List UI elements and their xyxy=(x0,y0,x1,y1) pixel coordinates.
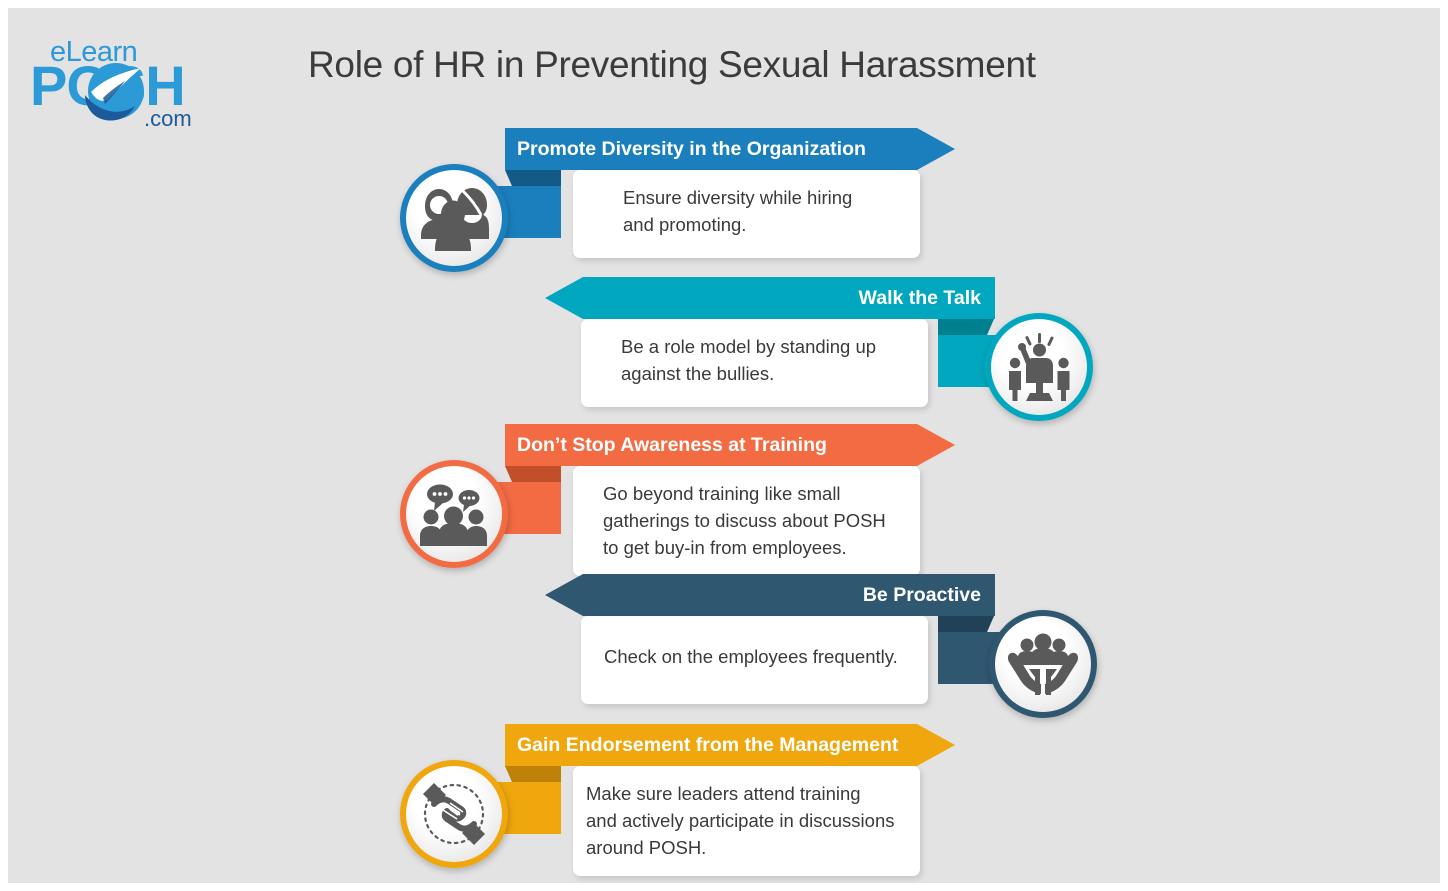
step-4-icon-badge xyxy=(989,610,1097,718)
step-4-card: Check on the employees frequently. xyxy=(581,616,928,704)
step-2-title: Walk the Talk xyxy=(859,277,981,319)
step-3-icon-badge xyxy=(400,460,508,568)
handshake-icon xyxy=(417,777,491,851)
dove-wave-mark-icon xyxy=(83,62,149,124)
step-3-title: Don’t Stop Awareness at Training xyxy=(517,424,827,466)
step-4-banner[interactable]: Be Proactive xyxy=(545,574,995,616)
step-row-3: Don’t Stop Awareness at Training Go beyo… xyxy=(8,416,1440,576)
infographic-canvas: eLearn POSH .com Role of HR in Preventin… xyxy=(8,8,1440,883)
diverse-people-icon xyxy=(419,185,489,251)
step-3-card: Go beyond training like small gatherings… xyxy=(573,466,920,576)
step-1-body: Ensure diversity while hiring and promot… xyxy=(623,184,852,238)
step-4-title: Be Proactive xyxy=(863,574,981,616)
step-5-body: Make sure leaders attend training and ac… xyxy=(586,780,895,861)
step-1-banner[interactable]: Promote Diversity in the Organization xyxy=(505,128,955,170)
step-1-icon-badge xyxy=(400,164,508,272)
leader-on-podium-icon xyxy=(1006,333,1072,401)
step-5-title: Gain Endorsement from the Management xyxy=(517,724,898,766)
hands-holding-people-icon xyxy=(1007,631,1079,697)
step-row-1: Promote Diversity in the Organization En… xyxy=(8,120,1440,280)
step-5-card: Make sure leaders attend training and ac… xyxy=(573,766,920,876)
group-discussion-icon xyxy=(419,482,489,546)
step-1-title: Promote Diversity in the Organization xyxy=(517,128,866,170)
step-3-body: Go beyond training like small gatherings… xyxy=(603,480,886,561)
step-3-banner[interactable]: Don’t Stop Awareness at Training xyxy=(505,424,955,466)
step-4-body: Check on the employees frequently. xyxy=(604,643,898,670)
step-2-icon-badge xyxy=(985,313,1093,421)
step-row-5: Gain Endorsement from the Management Mak… xyxy=(8,716,1440,876)
step-2-banner[interactable]: Walk the Talk xyxy=(545,277,995,319)
step-2-body: Be a role model by standing up against t… xyxy=(621,333,876,387)
step-1-card: Ensure diversity while hiring and promot… xyxy=(573,170,920,258)
step-row-4: Be Proactive Check on the employees freq… xyxy=(8,566,1440,726)
step-5-icon-badge xyxy=(400,760,508,868)
step-5-banner[interactable]: Gain Endorsement from the Management xyxy=(505,724,955,766)
step-row-2: Walk the Talk Be a role model by standin… xyxy=(8,269,1440,429)
step-2-card: Be a role model by standing up against t… xyxy=(581,319,928,407)
page-title: Role of HR in Preventing Sexual Harassme… xyxy=(308,44,1036,86)
brand-logo[interactable]: eLearn POSH .com xyxy=(30,36,240,128)
